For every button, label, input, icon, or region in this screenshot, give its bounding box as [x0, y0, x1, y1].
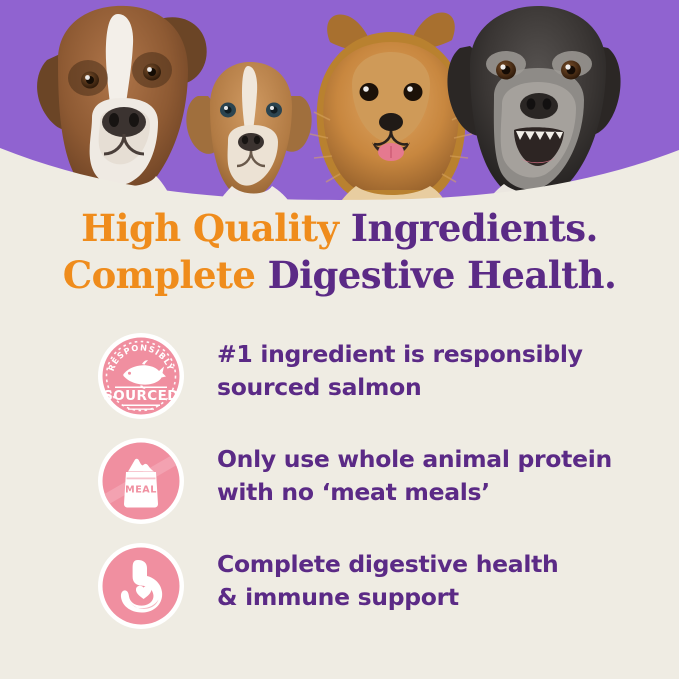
headline-line-1-purple: Ingredients.: [351, 206, 598, 250]
feature-row-no-meat-meals: MEAL Only use whole animal protein with …: [0, 438, 679, 543]
feature-row-digestive-health: Complete digestive health & immune suppo…: [0, 543, 679, 648]
headline-line-1: High Quality Ingredients.: [0, 205, 679, 252]
feature-text-responsibly-sourced: #1 ingredient is responsibly sourced sal…: [217, 333, 583, 404]
badge-main-text: SOURCED: [103, 388, 179, 404]
headline-line-2: Complete Digestive Health.: [0, 252, 679, 299]
no-meat-meal-bag-icon: MEAL: [98, 438, 184, 524]
responsibly-sourced-badge-icon: RESPONSIBLY SOURCED: [98, 333, 184, 419]
hero-banner: [0, 0, 679, 200]
meal-bag-label: MEAL: [125, 485, 157, 496]
headline-line-2-purple: Digestive Health.: [268, 253, 617, 297]
feature-text-digestive-health: Complete digestive health & immune suppo…: [217, 543, 558, 614]
dog-senior-black: [447, 6, 620, 200]
headline-line-1-orange: High Quality: [81, 206, 351, 250]
dog-pomeranian: [310, 12, 472, 200]
marketing-infographic: High Quality Ingredients. Complete Diges…: [0, 0, 679, 679]
page-title: High Quality Ingredients. Complete Diges…: [0, 205, 679, 299]
headline-line-2-orange: Complete: [63, 253, 268, 297]
stomach-heart-digestive-icon: [98, 543, 184, 629]
feature-row-responsibly-sourced: RESPONSIBLY SOURCED #1 ingre: [0, 333, 679, 438]
dog-tan-puppy: [186, 62, 311, 200]
feature-list: RESPONSIBLY SOURCED #1 ingre: [0, 333, 679, 648]
hero-dogs-photo: [0, 0, 679, 200]
dog-boxer: [37, 6, 207, 200]
feature-text-no-meat-meals: Only use whole animal protein with no ‘m…: [217, 438, 612, 509]
